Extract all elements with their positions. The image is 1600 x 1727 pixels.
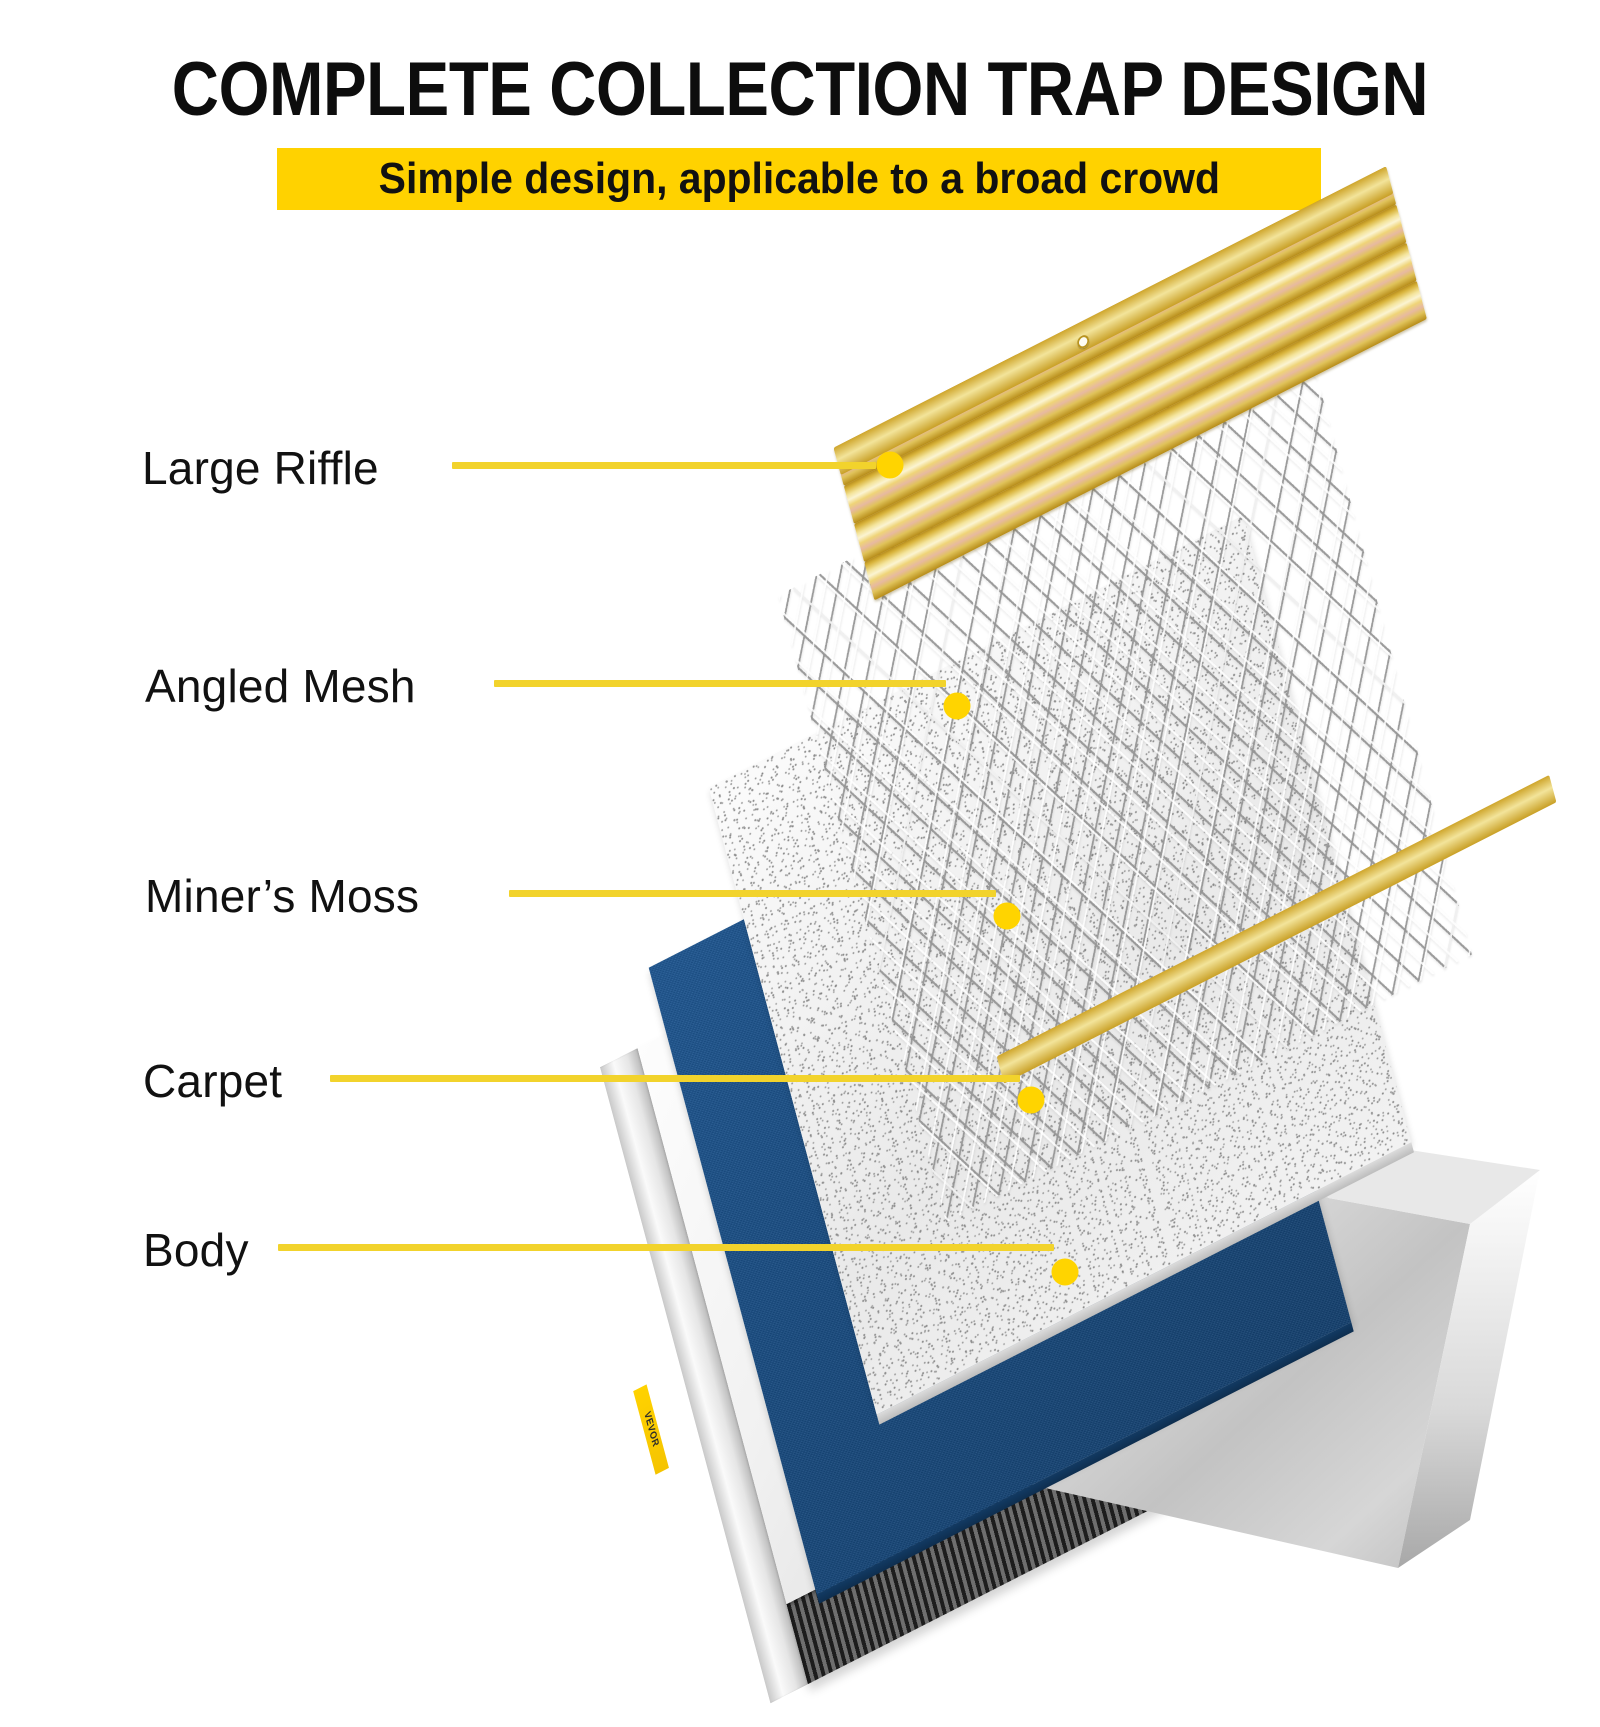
infographic-canvas: COMPLETE COLLECTION TRAP DESIGN Simple d…: [0, 0, 1600, 1600]
callout-dot: [1052, 1259, 1079, 1286]
brand-logo-text: VEVOR: [642, 1410, 661, 1449]
callout-leader-line: [509, 890, 996, 897]
callout-dot: [877, 452, 904, 479]
callout-label-large-riffle: Large Riffle: [142, 441, 379, 495]
callout-leader-line: [452, 462, 876, 469]
callout-leader-line: [278, 1244, 1054, 1251]
callout-dot: [994, 903, 1021, 930]
callout-label-miners-moss: Miner’s Moss: [145, 869, 419, 923]
callout-label-carpet: Carpet: [143, 1054, 282, 1108]
callout-dot: [1018, 1087, 1045, 1114]
callout-dot: [944, 693, 971, 720]
callout-leader-line: [330, 1075, 1020, 1082]
callout-label-body: Body: [143, 1223, 249, 1277]
exploded-product-illustration: VEVOR: [0, 0, 1600, 1600]
brand-logo-tag: VEVOR: [633, 1384, 669, 1474]
callout-label-angled-mesh: Angled Mesh: [145, 659, 416, 713]
callout-leader-line: [494, 680, 946, 687]
